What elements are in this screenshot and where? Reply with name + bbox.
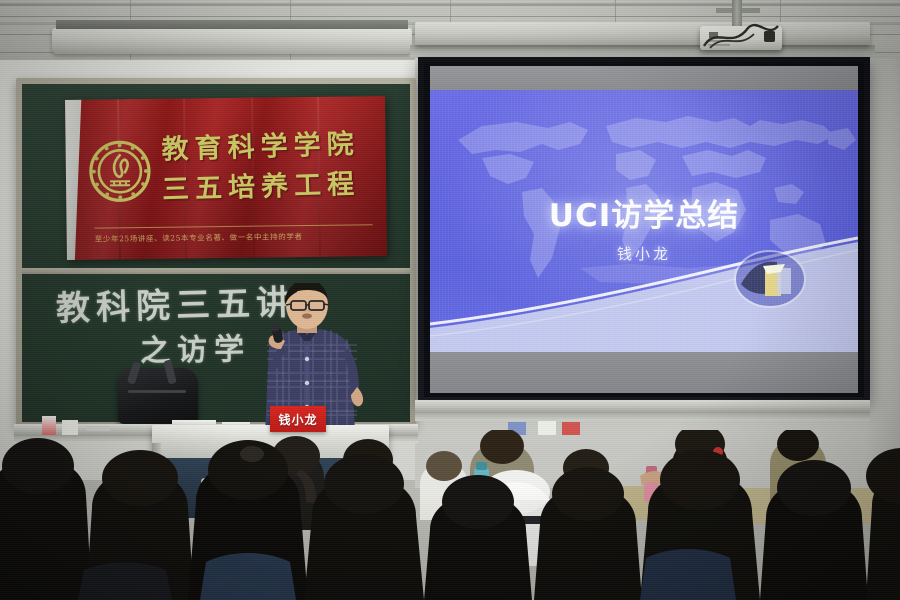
banner-text: 教育科学学院 三五培养工程 <box>161 130 378 204</box>
banner-line1: 教育科学学院 <box>161 128 378 166</box>
screen-roller-housing <box>415 22 870 45</box>
banner-subtext: 至少年25场讲座、读25本专业名著、做一名中主持的学者 <box>95 230 377 244</box>
screen-chalk-ledge <box>415 400 870 413</box>
slide-circle-emblem-icon <box>733 248 807 310</box>
banner-line2: 三五培养工程 <box>162 168 379 206</box>
slide-title: UCI访学总结 <box>430 190 858 235</box>
banner-rule <box>95 224 373 228</box>
screen-top-area <box>430 66 858 90</box>
fluorescent-light-fixture <box>52 28 412 54</box>
audience <box>0 430 900 600</box>
lecture-hall-photo: 教科院三五讲 之访学 教育科学学院 <box>0 0 900 600</box>
blackboard-divider <box>22 268 410 274</box>
chalk-text-line2: 之访学 <box>140 324 252 370</box>
banner-white-edge <box>65 96 81 260</box>
podium-nameplate: 钱小龙 <box>270 406 326 432</box>
backpack <box>118 368 198 424</box>
red-banner: 教育科学学院 三五培养工程 至少年25场讲座、读25本专业名著、做一名中主持的学… <box>65 96 387 260</box>
projector-cables <box>690 20 790 50</box>
college-emblem-icon <box>88 139 153 204</box>
screen-bottom-area <box>430 352 858 393</box>
nameplate-text: 钱小龙 <box>278 411 317 428</box>
screen-chalk-ledge-lip <box>415 413 870 421</box>
presentation-slide: UCI访学总结 钱小龙 <box>430 90 858 352</box>
screen-roller-shadow <box>410 45 875 57</box>
